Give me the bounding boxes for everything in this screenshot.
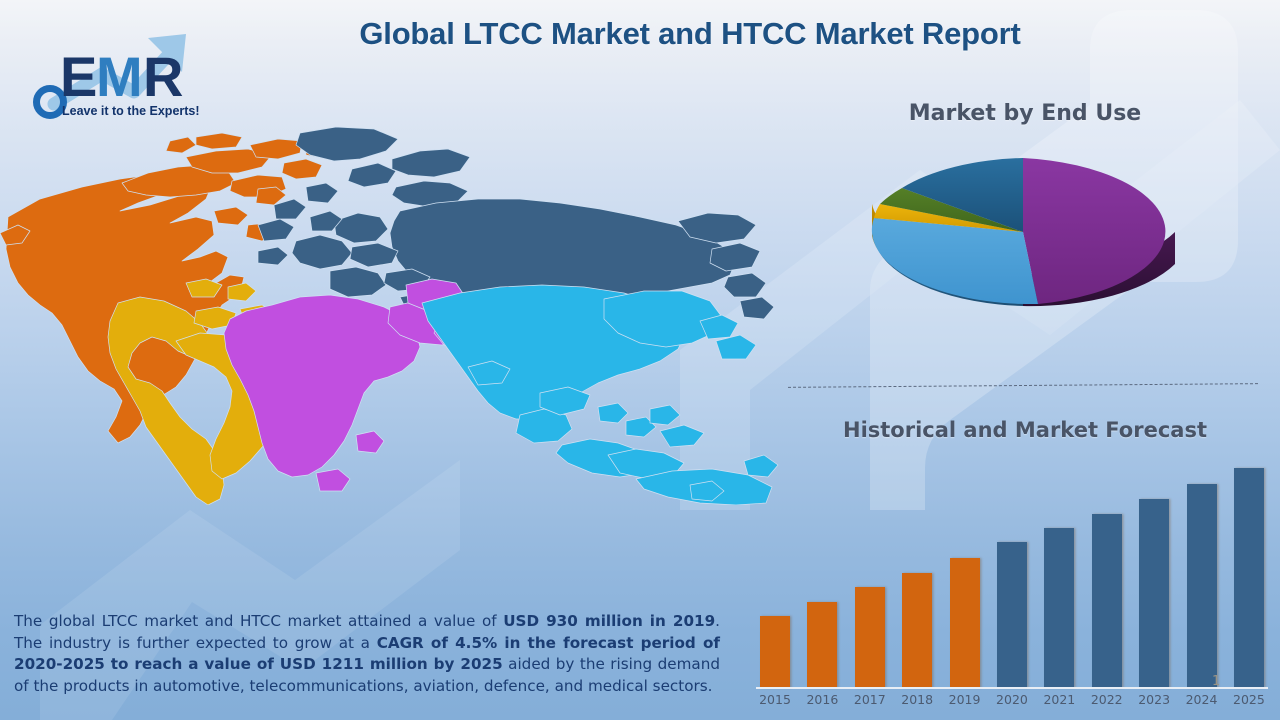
x-label: 2018 — [900, 692, 934, 707]
x-label: 2025 — [1232, 692, 1266, 707]
bar-2021 — [1044, 528, 1074, 688]
x-label: 2023 — [1137, 692, 1171, 707]
emr-logo[interactable]: E M R Leave it to the Experts! — [30, 22, 220, 122]
x-label: 2019 — [948, 692, 982, 707]
bar-column — [853, 452, 887, 688]
svg-text:R: R — [143, 45, 183, 108]
logo-tagline: Leave it to the Experts! — [62, 104, 200, 118]
bar-column — [995, 452, 1029, 688]
bar-2025 — [1234, 468, 1264, 688]
infographic-canvas: E M R Leave it to the Experts! Global LT… — [0, 0, 1280, 720]
summary-highlight-1: USD 930 million in 2019 — [503, 612, 715, 630]
summary-text-1: The global LTCC market and HTCC market a… — [14, 612, 503, 630]
bar-chart-x-labels: 2015 2016 2017 2018 2019 2020 2021 2022 … — [752, 692, 1272, 707]
section-divider — [788, 383, 1258, 388]
svg-text:M: M — [96, 45, 143, 108]
pie-chart-heading: Market by End Use — [790, 101, 1260, 126]
page-title: Global LTCC Market and HTCC Market Repor… — [240, 16, 1140, 52]
svg-text:E: E — [60, 45, 97, 108]
x-label: 2020 — [995, 692, 1029, 707]
bar-2018 — [902, 573, 932, 688]
bar-column — [1232, 452, 1266, 688]
x-label: 2024 — [1185, 692, 1219, 707]
bar-column — [948, 452, 982, 688]
pie-chart — [858, 132, 1188, 332]
bar-column — [1090, 452, 1124, 688]
x-label: 2021 — [1042, 692, 1076, 707]
bar-2017 — [855, 587, 885, 688]
bar-column — [900, 452, 934, 688]
bar-2022 — [1092, 514, 1122, 688]
map-region-asia-pacific — [422, 285, 778, 505]
bar-column — [805, 452, 839, 688]
bar-2020 — [997, 542, 1027, 688]
bar-2023 — [1139, 499, 1169, 688]
bar-column — [1042, 452, 1076, 688]
bar-2015 — [760, 616, 790, 688]
bar-plot-area — [752, 452, 1272, 688]
bar-column — [1185, 452, 1219, 688]
bar-column — [1137, 452, 1171, 688]
axis-artifact-label: 1 — [1212, 674, 1220, 689]
bar-column — [758, 452, 792, 688]
bar-chart-axis — [756, 687, 1268, 689]
x-label: 2017 — [853, 692, 887, 707]
summary-paragraph: The global LTCC market and HTCC market a… — [14, 611, 720, 697]
x-label: 2016 — [805, 692, 839, 707]
bar-2016 — [807, 602, 837, 688]
bar-2019 — [950, 558, 980, 688]
x-label: 2022 — [1090, 692, 1124, 707]
bar-chart-heading: Historical and Market Forecast — [790, 418, 1260, 442]
bar-2024 — [1187, 484, 1217, 688]
world-map — [0, 125, 780, 505]
logo-wordmark: E M R — [60, 45, 183, 108]
bar-chart: 1 2015 2016 2017 2018 2019 2020 2021 202… — [752, 452, 1272, 714]
x-label: 2015 — [758, 692, 792, 707]
